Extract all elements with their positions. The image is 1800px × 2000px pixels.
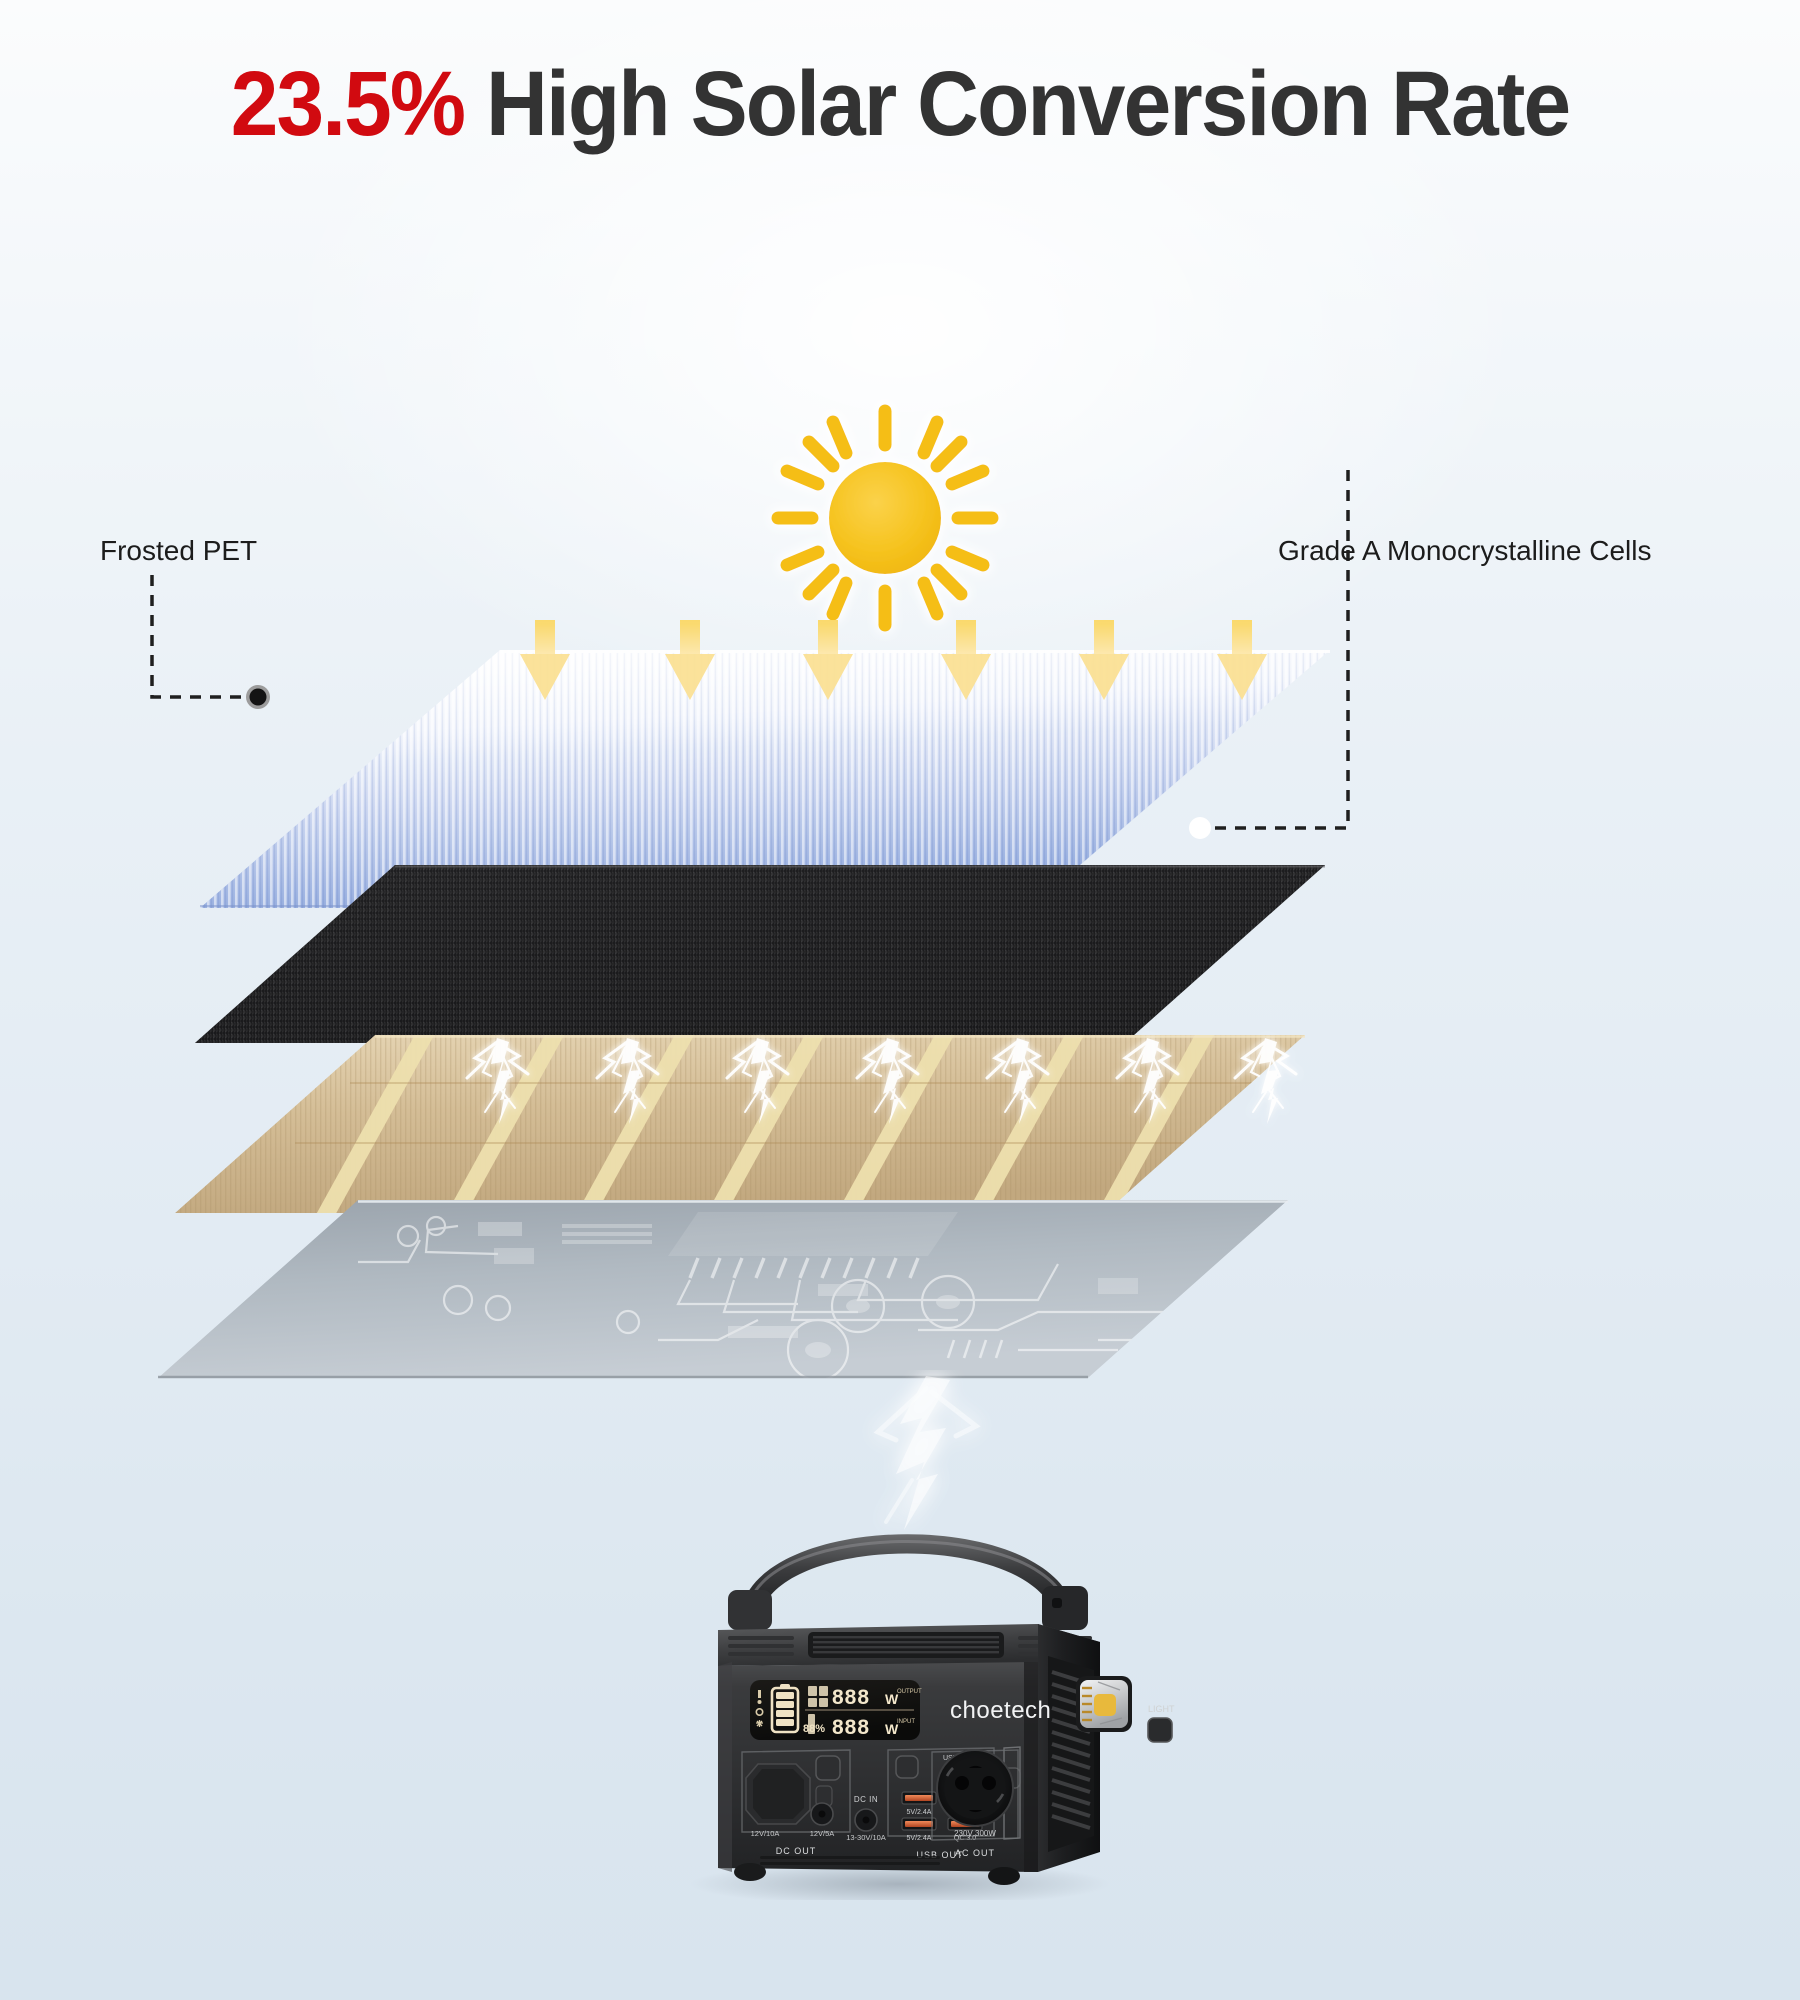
rubber-feet (734, 1863, 1020, 1885)
bottom-vent (760, 1856, 940, 1865)
schuko-socket (937, 1750, 1013, 1826)
annotation-label-monocrystalline-cells: Grade A Monocrystalline Cells (1278, 535, 1652, 567)
lightning-bolt-icon (195, 1020, 1325, 1220)
conversion-rate-value: 23.5% (231, 53, 464, 155)
ac-out-section: 230V 300W AC OUT (600, 1480, 1220, 1900)
ac-port-label: 230V 300W (954, 1829, 996, 1838)
sunlight-arrow-icon (0, 620, 1800, 880)
page-title: 23.5% High Solar Conversion Rate (63, 52, 1737, 157)
solar-cell-layer (195, 865, 1325, 1045)
page-title-text: High Solar Conversion Rate (486, 53, 1569, 155)
sun-icon (745, 393, 1025, 643)
ac-out-section-title: AC OUT (955, 1848, 995, 1858)
annotation-label-frosted-pet: Frosted PET (100, 535, 257, 567)
pcb-layer (158, 1200, 1288, 1380)
